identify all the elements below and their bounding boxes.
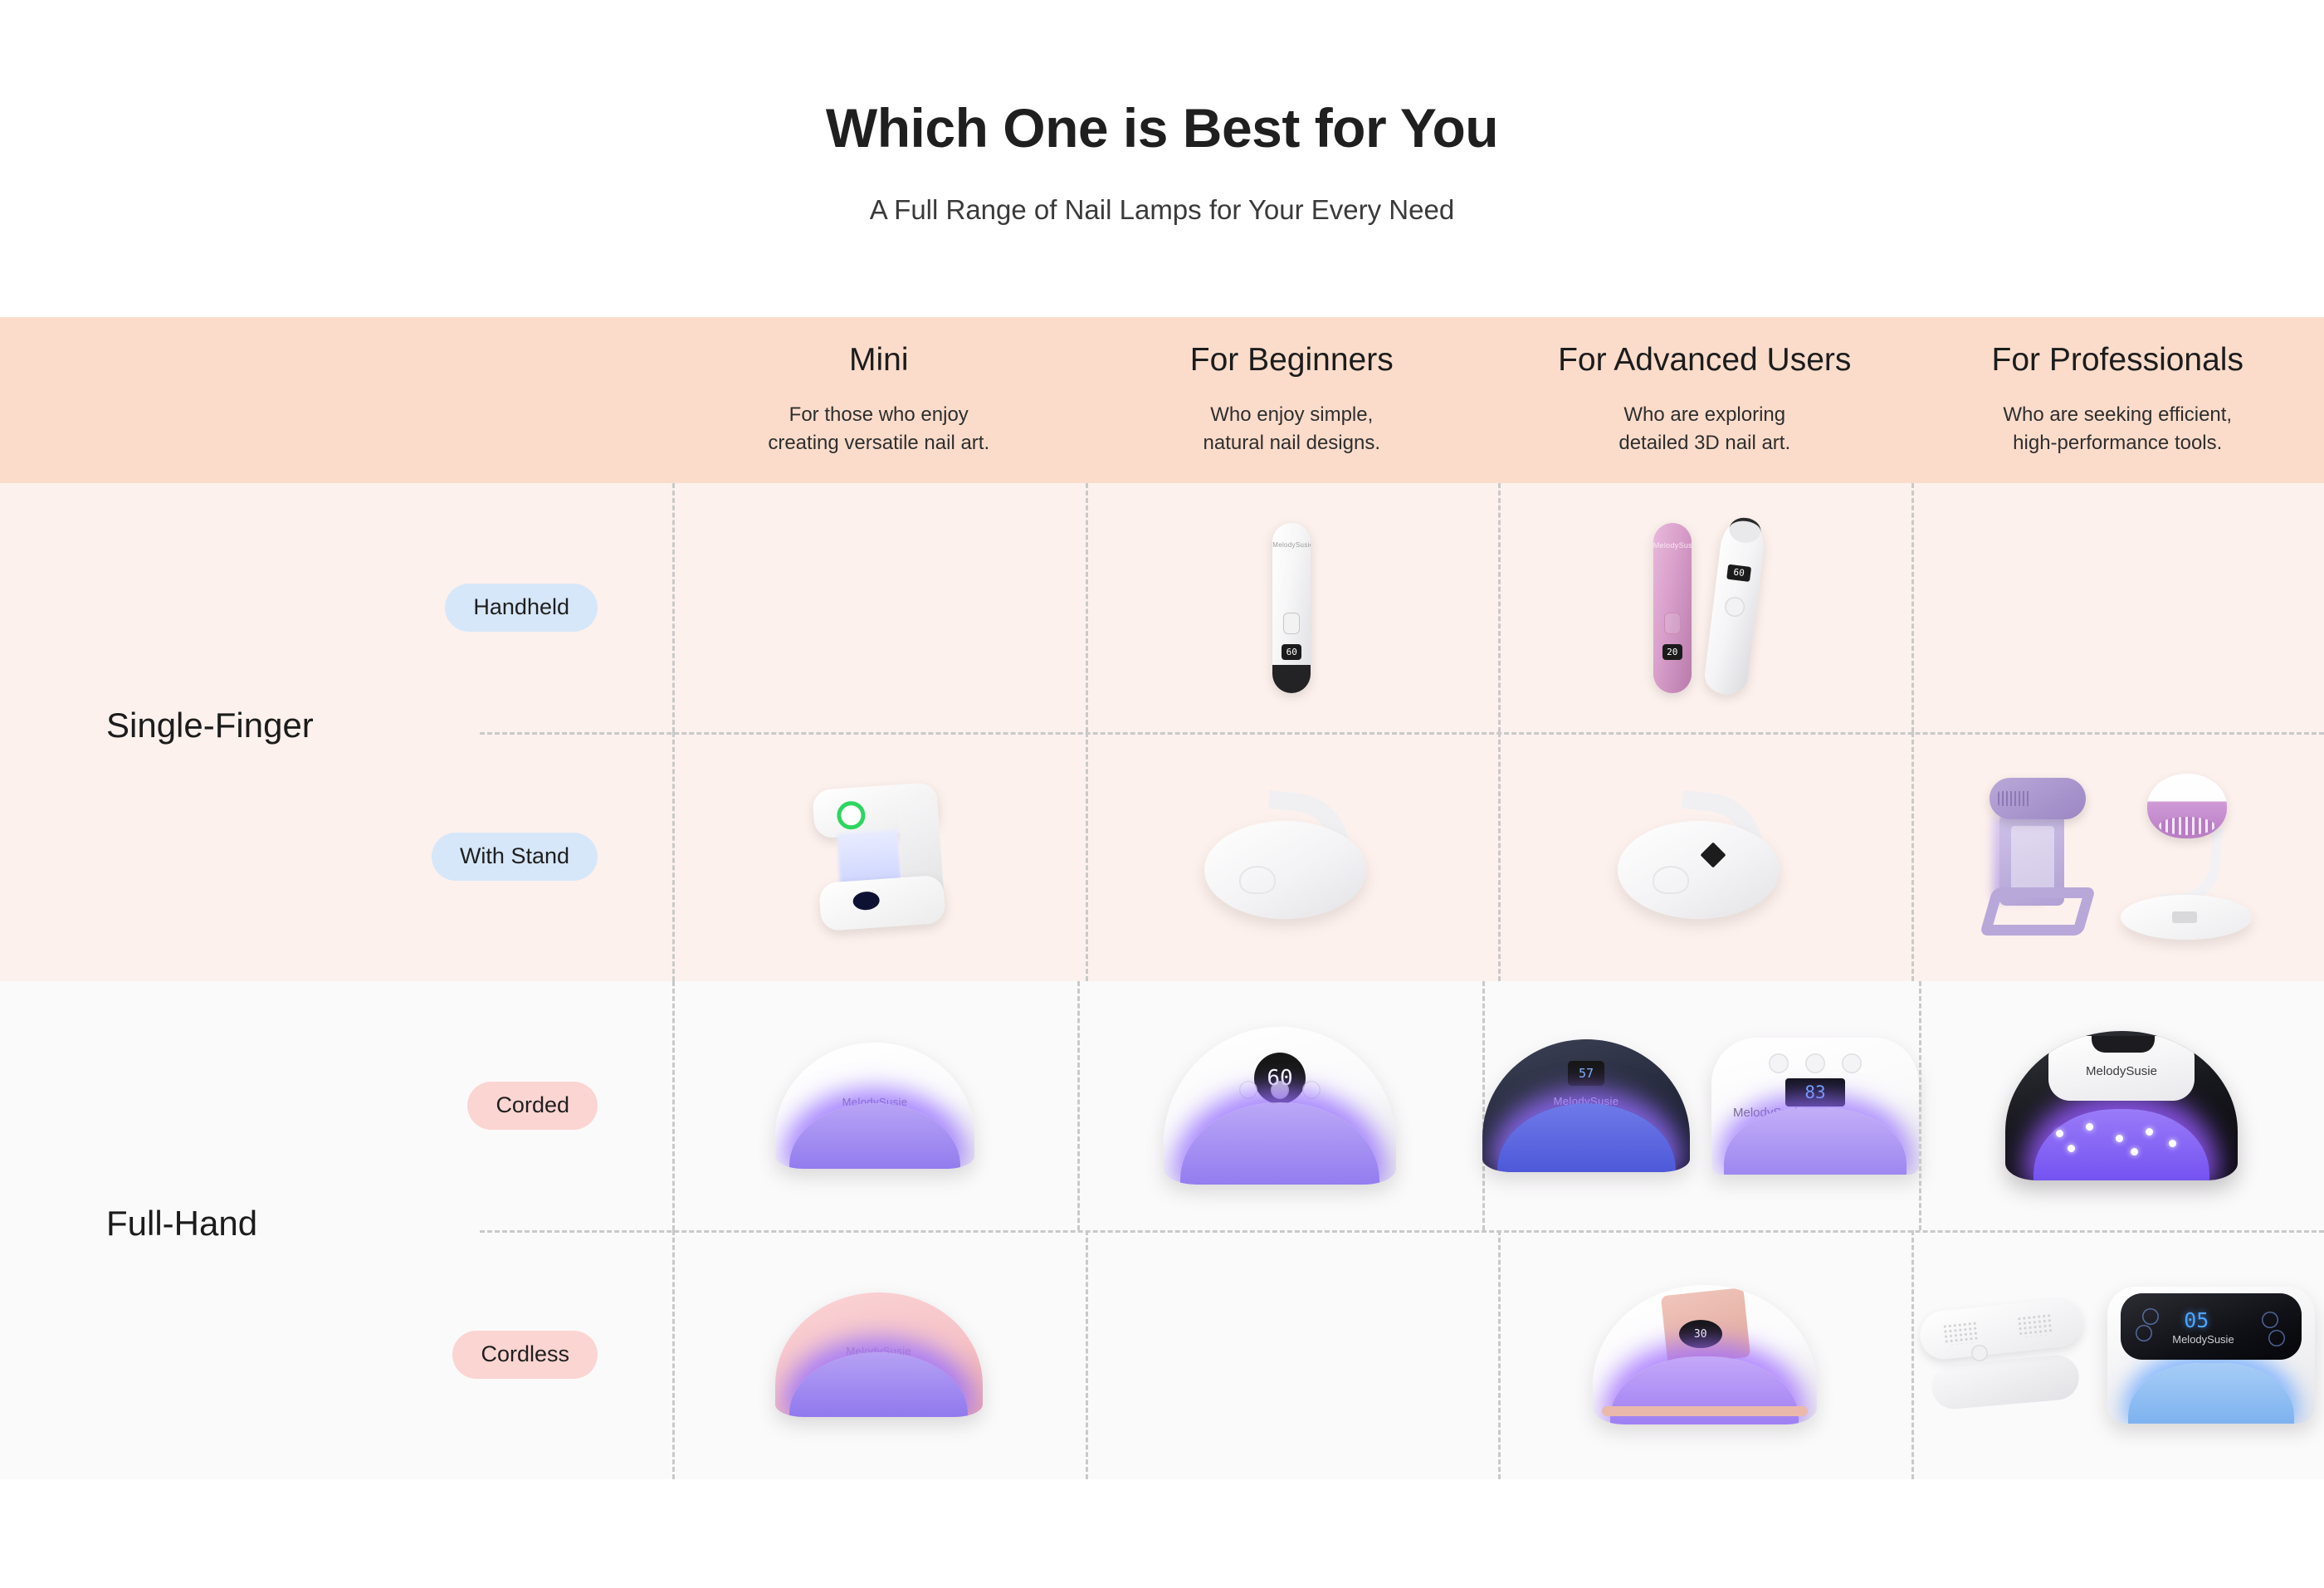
product-arch-lamp-white[interactable]: MelodySusie (775, 1043, 974, 1169)
clamshell-lid (1918, 1297, 2085, 1361)
cell-handheld-mini (672, 483, 1086, 732)
column-header-beginners: For Beginners Who enjoy simple, natural … (1086, 317, 1499, 483)
product-boxy-lamp-white[interactable]: 83 MelodySusie (1711, 1038, 1919, 1175)
vent-grille (1998, 791, 2031, 806)
timer-button (2268, 1330, 2285, 1346)
cell-corded-professionals[interactable]: MelodySusie (1919, 981, 2324, 1230)
uv-cavity (789, 1103, 960, 1169)
brand-emboss (1653, 866, 1689, 894)
header-corner-spacer (0, 317, 672, 483)
clamshell-bottom (1930, 1354, 2081, 1411)
product-arch-lamp-pink[interactable]: MelodySusie (775, 1292, 983, 1417)
product-folding-clamshell-lamp[interactable] (1920, 1305, 2086, 1405)
cell-handheld-professionals (1911, 483, 2324, 732)
power-button (1283, 613, 1300, 634)
section-full-hand: Full-Hand Corded MelodySusie 60 (0, 981, 2324, 1479)
cell-cordless-advanced[interactable]: 30 (1498, 1230, 1911, 1479)
column-divider (1919, 981, 1921, 1230)
group-label-single-finger: Single-Finger (106, 706, 314, 745)
column-divider (1498, 483, 1501, 732)
row-badge-with-stand: With Stand (432, 833, 598, 881)
column-divider (1077, 981, 1080, 1230)
lamp-base (2121, 895, 2252, 940)
uv-cavity (2128, 1363, 2294, 1424)
column-title: For Beginners (1190, 342, 1394, 379)
product-arch-lamp-navy[interactable]: 57 MelodySusie (1482, 1039, 1690, 1172)
wand-head (1728, 516, 1762, 545)
product-display: 20 (1662, 644, 1682, 660)
column-description: Who enjoy simple, natural nail designs. (1203, 401, 1380, 457)
row-badge-handheld: Handheld (445, 584, 598, 632)
column-description: For those who enjoy creating versatile n… (768, 401, 989, 457)
column-divider (672, 732, 675, 981)
column-description: Who are exploring detailed 3D nail art. (1618, 401, 1790, 457)
lamp-tip (1272, 665, 1311, 693)
uv-glow (837, 830, 901, 886)
row-badge-corded: Corded (467, 1082, 598, 1130)
product-wand-lamp-white[interactable]: 60 (1702, 519, 1766, 697)
timer-buttons (1164, 1081, 1396, 1099)
timer-button (1239, 1081, 1257, 1099)
column-header-advanced: For Advanced Users Who are exploring det… (1498, 317, 1911, 483)
timer-button (1271, 1081, 1289, 1099)
row-corded: Corded MelodySusie 60 (0, 981, 2324, 1230)
timer-button (2142, 1308, 2159, 1325)
page-subtitle: A Full Range of Nail Lamps for Your Ever… (0, 193, 2324, 227)
cell-stand-mini[interactable] (672, 732, 1086, 981)
column-divider (1498, 732, 1501, 981)
timer-buttons (1711, 1053, 1919, 1073)
uv-cavity (1497, 1103, 1676, 1172)
cell-stand-advanced[interactable] (1498, 732, 1911, 981)
product-pen-lamp-white[interactable]: MelodySusie 60 (1272, 523, 1311, 693)
row-handheld: Handheld MelodySusie 60 (0, 483, 2324, 732)
product-display: 57 (1568, 1061, 1604, 1086)
product-brand-mark: MelodySusie (1272, 541, 1311, 549)
cell-corded-advanced[interactable]: 57 MelodySusie 83 MelodySusie (1482, 981, 1919, 1230)
column-description: Who are seeking efficient, high-performa… (2003, 401, 2232, 457)
product-dome-lamp-white[interactable]: 60 MelodySusie (1164, 1027, 1396, 1185)
product-gooseneck-desk-lamp[interactable] (2116, 774, 2257, 940)
timer-button (1842, 1053, 1862, 1073)
column-divider (672, 1230, 675, 1479)
page-title: Which One is Best for You (0, 98, 2324, 159)
comparison-matrix: Mini For those who enjoy creating versat… (0, 317, 2324, 1479)
flexible-neck (2160, 828, 2223, 905)
product-display: 05 (2184, 1308, 2209, 1332)
uv-cavity (789, 1352, 968, 1417)
label-panel (2011, 826, 2054, 894)
product-pro-lamp-black[interactable]: MelodySusie (2005, 1031, 2238, 1180)
product-folding-clip-lamp[interactable] (1978, 778, 2094, 936)
group-label-full-hand: Full-Hand (106, 1204, 257, 1244)
section-single-finger: Single-Finger Handheld MelodySusie 60 (0, 483, 2324, 981)
lamp-dome-head (2147, 774, 2227, 838)
cell-cordless-mini[interactable]: MelodySusie (672, 1230, 1086, 1479)
cell-cordless-professionals[interactable]: 05 MelodySusie (1911, 1230, 2324, 1479)
bezel-trim (1602, 1406, 1808, 1416)
product-pen-lamp-pink[interactable]: MelodySusie 20 (1653, 523, 1692, 693)
column-divider (1086, 483, 1088, 732)
cell-stand-professionals[interactable] (1911, 732, 2324, 981)
product-display: 60 (1726, 564, 1751, 582)
column-header-band: Mini For those who enjoy creating versat… (0, 317, 2324, 483)
column-title: Mini (849, 342, 909, 379)
folding-leg (1980, 887, 2097, 936)
column-divider (672, 981, 675, 1230)
timer-button (2262, 1312, 2278, 1328)
product-display: 83 (1785, 1078, 1845, 1107)
row-cordless: Cordless MelodySusie 30 (0, 1230, 2324, 1479)
timer-button (1769, 1053, 1789, 1073)
column-divider (1086, 732, 1088, 981)
power-button (1723, 596, 1745, 618)
column-title: For Professionals (1992, 342, 2243, 379)
row-label-cell: With Stand (0, 732, 672, 981)
cell-stand-beginners[interactable] (1086, 732, 1499, 981)
product-brand-mark: MelodySusie (1653, 541, 1692, 550)
lamp-base (1618, 821, 1780, 919)
column-divider (1498, 1230, 1501, 1479)
product-brand-mark: MelodySusie (2005, 1064, 2238, 1078)
product-pro-cordless-lamp[interactable]: 05 MelodySusie (2107, 1287, 2315, 1424)
product-display: 30 (1679, 1320, 1722, 1348)
column-title: For Advanced Users (1558, 342, 1851, 379)
cell-cordless-beginners (1086, 1230, 1499, 1479)
timer-button (1805, 1053, 1825, 1073)
cell-handheld-advanced[interactable]: MelodySusie 20 60 (1498, 483, 1911, 732)
row-badge-cordless: Cordless (452, 1331, 598, 1379)
column-divider (1911, 732, 1914, 981)
column-divider (1911, 1230, 1914, 1479)
brand-emboss (1239, 866, 1276, 894)
product-disc-stand-lamp[interactable] (1204, 794, 1379, 919)
cell-handheld-beginners[interactable]: MelodySusie 60 (1086, 483, 1499, 732)
cell-corded-mini[interactable]: MelodySusie (672, 981, 1077, 1230)
product-disc-stand-lamp-sensor[interactable] (1618, 794, 1792, 919)
column-header-professionals: For Professionals Who are seeking effici… (1911, 317, 2324, 483)
timer-button (1302, 1081, 1321, 1099)
led-array (2047, 1123, 2195, 1156)
lamp-base (1204, 821, 1366, 919)
column-divider (672, 483, 675, 732)
product-clamp-mini-lamp[interactable] (812, 782, 945, 931)
row-label-cell: Cordless (0, 1230, 672, 1479)
column-header-mini: Mini For those who enjoy creating versat… (672, 317, 1086, 483)
product-display: 60 (1282, 644, 1301, 660)
column-divider (1911, 483, 1914, 732)
timer-button (2136, 1325, 2152, 1341)
power-button (1971, 1345, 1988, 1361)
product-rosegold-lamp[interactable]: 30 (1593, 1285, 1817, 1424)
row-label-cell: Corded (0, 981, 672, 1230)
clamp-bottom-arm (818, 875, 946, 931)
page-header: Which One is Best for You A Full Range o… (0, 0, 2324, 226)
row-label-cell: Handheld (0, 483, 672, 732)
row-with-stand: With Stand (0, 732, 2324, 981)
cell-corded-beginners[interactable]: 60 MelodySusie (1077, 981, 1482, 1230)
column-divider (1086, 1230, 1088, 1479)
product-brand-mark: MelodySusie (2172, 1333, 2234, 1346)
power-button (1664, 613, 1681, 634)
